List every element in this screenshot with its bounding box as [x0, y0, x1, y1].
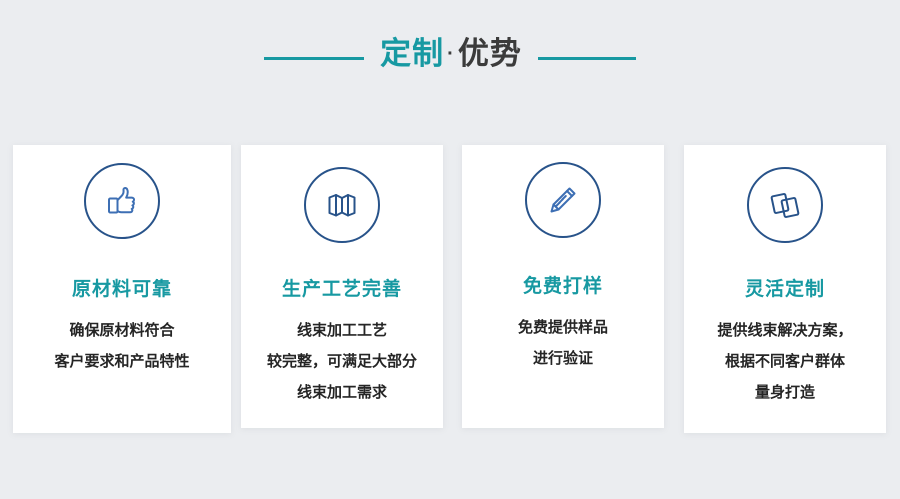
card-body-line: 免费提供样品: [518, 312, 608, 343]
thumbs-up-icon: [102, 181, 142, 221]
pencil-icon: [543, 180, 583, 220]
header-rule-right: [538, 57, 636, 60]
card-body: 免费提供样品 进行验证: [518, 312, 608, 374]
page-title-dark: 优势: [458, 36, 522, 71]
card-title: 灵活定制: [745, 274, 825, 301]
card-title: 原材料可靠: [72, 274, 172, 301]
feature-card-list: 原材料可靠 确保原材料符合 客户要求和产品特性 生产工艺完善 线束加工工艺 较完…: [0, 145, 900, 445]
card-body-line: 线束加工需求: [267, 377, 417, 408]
icon-circle: [84, 163, 160, 239]
card-body: 提供线束解决方案， 根据不同客户群体 量身打造: [717, 315, 852, 408]
card-body-line: 较完整，可满足大部分: [267, 346, 417, 377]
card-body-line: 量身打造: [717, 377, 852, 408]
stacked-cards-icon: [765, 185, 805, 225]
card-body-line: 线束加工工艺: [267, 315, 417, 346]
page-title-separator: ·: [444, 43, 458, 65]
card-body-line: 提供线束解决方案，: [717, 315, 852, 346]
card-title: 生产工艺完善: [282, 274, 402, 301]
feature-card[interactable]: 原材料可靠 确保原材料符合 客户要求和产品特性: [13, 145, 231, 433]
feature-card[interactable]: 免费打样 免费提供样品 进行验证: [462, 145, 664, 428]
card-body-line: 确保原材料符合: [54, 315, 189, 346]
card-body-line: 根据不同客户群体: [717, 346, 852, 377]
card-body-line: 客户要求和产品特性: [54, 346, 189, 377]
section-header: 定制·优势: [0, 0, 900, 112]
icon-circle: [525, 162, 601, 238]
icon-circle: [304, 167, 380, 243]
card-body: 确保原材料符合 客户要求和产品特性: [54, 315, 189, 377]
feature-card[interactable]: 生产工艺完善 线束加工工艺 较完整，可满足大部分 线束加工需求: [241, 145, 443, 428]
page-title-accent: 定制: [380, 36, 444, 71]
card-body: 线束加工工艺 较完整，可满足大部分 线束加工需求: [267, 315, 417, 408]
page-title: 定制·优势: [380, 36, 522, 76]
folded-map-icon: [322, 185, 362, 225]
card-title: 免费打样: [523, 271, 603, 298]
icon-circle: [747, 167, 823, 243]
card-body-line: 进行验证: [518, 343, 608, 374]
header-rule-left: [264, 57, 364, 60]
feature-card[interactable]: 灵活定制 提供线束解决方案， 根据不同客户群体 量身打造: [684, 145, 886, 433]
